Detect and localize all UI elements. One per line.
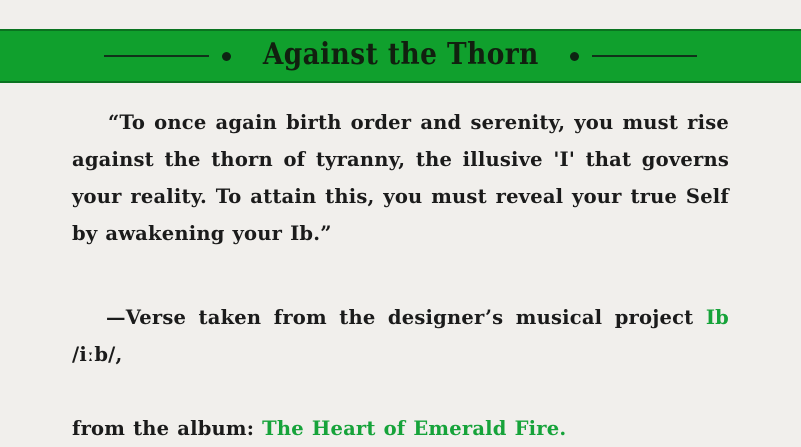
left-bullet-dot-icon [222,52,231,61]
project-name: Ib [706,306,729,329]
attribution-paragraph: —Verse taken from the designer’s musical… [72,299,729,447]
left-rule-decoration [104,55,209,57]
project-pronunciation: /iːb/, [72,343,122,366]
page-root: Against the Thorn “To once again birth o… [0,0,801,401]
quote-paragraph: “To once again birth order and serenity,… [72,104,729,252]
content-area: “To once again birth order and serenity,… [72,104,729,252]
right-rule-decoration [592,55,697,57]
album-label: from the album: [72,417,262,440]
em-dash: — [106,306,126,329]
page-title: Against the Thorn [263,40,539,72]
header-banner: Against the Thorn [0,29,801,83]
attribution-line-1: —Verse taken from the designer’s musical… [72,306,729,403]
album-title: The Heart of Emerald Fire. [262,417,566,440]
attribution-line-2: from the album: The Heart of Emerald Fir… [72,417,566,440]
attribution-lead-text: Verse taken from the designer’s musical … [126,306,706,329]
right-bullet-dot-icon [570,52,579,61]
banner-inner: Against the Thorn [0,40,801,72]
